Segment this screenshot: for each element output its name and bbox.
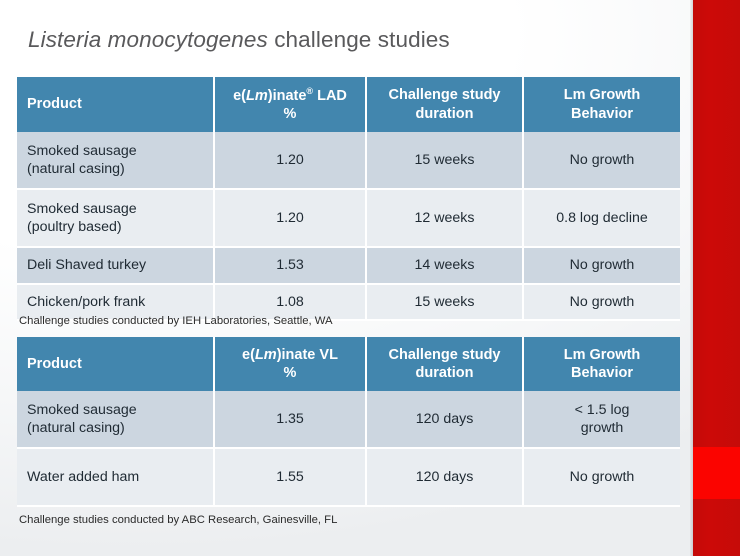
column-header-growth-behavior: Lm Growth Behavior xyxy=(523,77,680,132)
cell-product-line2: (natural casing) xyxy=(27,420,125,436)
growth-behavior-line1: Lm Growth xyxy=(564,87,641,103)
challenge-duration-line1: Challenge study xyxy=(389,347,501,363)
table-row: Water added ham 1.55 120 days No growth xyxy=(17,448,680,506)
elminate-suffix: )inate VL xyxy=(277,347,338,363)
elminate-tail: LAD xyxy=(313,88,347,104)
table-header-row: Product e(Lm)inate® LAD % Challenge stud… xyxy=(17,77,680,132)
table-row: Deli Shaved turkey 1.53 14 weeks No grow… xyxy=(17,247,680,283)
challenge-duration-line2: duration xyxy=(416,365,474,381)
column-header-elminate-lad: e(Lm)inate® LAD % xyxy=(214,77,366,132)
footnote-ieh: Challenge studies conducted by IEH Labor… xyxy=(19,315,333,327)
cell-growth-behavior: No growth xyxy=(523,284,680,320)
cell-product-line1: Smoked sausage xyxy=(27,143,137,159)
decorative-red-bar-edge xyxy=(690,0,693,556)
cell-growth-behavior: 0.8 log decline xyxy=(523,189,680,247)
elminate-suffix: )inate xyxy=(268,88,307,104)
elminate-percent: % xyxy=(284,106,297,122)
cell-vl-percent: 1.35 xyxy=(214,391,366,448)
column-header-elminate-vl: e(Lm)inate VL % xyxy=(214,337,366,391)
cell-growth-behavior: No growth xyxy=(523,132,680,189)
cell-product: Deli Shaved turkey xyxy=(17,247,214,283)
growth-behavior-line2: Behavior xyxy=(571,365,633,381)
cell-duration: 15 weeks xyxy=(366,132,523,189)
cell-duration: 15 weeks xyxy=(366,284,523,320)
cell-growth-behavior: No growth xyxy=(523,448,680,506)
cell-product: Smoked sausage (natural casing) xyxy=(17,132,214,189)
cell-duration: 14 weeks xyxy=(366,247,523,283)
footnote-abc: Challenge studies conducted by ABC Resea… xyxy=(19,514,337,526)
page-title-scientific-name: Listeria monocytogenes xyxy=(28,27,268,52)
elminate-prefix: e( xyxy=(233,88,246,104)
growth-behavior-line2: Behavior xyxy=(571,106,633,122)
cell-product-line2: (poultry based) xyxy=(27,219,122,235)
column-header-product-label: Product xyxy=(27,356,82,372)
cell-lad-percent: 1.20 xyxy=(214,132,366,189)
column-header-product-label: Product xyxy=(27,96,82,112)
cell-product-line1: Smoked sausage xyxy=(27,402,137,418)
cell-lad-percent: 1.20 xyxy=(214,189,366,247)
table-row: Smoked sausage (poultry based) 1.20 12 w… xyxy=(17,189,680,247)
page-title-suffix: challenge studies xyxy=(268,27,450,52)
cell-product: Smoked sausage (poultry based) xyxy=(17,189,214,247)
growth-behavior-line1: Lm Growth xyxy=(564,347,641,363)
table-row: Smoked sausage (natural casing) 1.35 120… xyxy=(17,391,680,448)
cell-product-line2: (natural casing) xyxy=(27,161,125,177)
cell-growth-behavior: < 1.5 log growth xyxy=(523,391,680,448)
column-header-challenge-duration: Challenge study duration xyxy=(366,77,523,132)
column-header-product: Product xyxy=(17,77,214,132)
cell-growth-behavior-line2: growth xyxy=(581,420,624,436)
column-header-challenge-duration: Challenge study duration xyxy=(366,337,523,391)
elminate-prefix: e( xyxy=(242,347,255,363)
column-header-product: Product xyxy=(17,337,214,391)
cell-lad-percent: 1.53 xyxy=(214,247,366,283)
slide-canvas: Listeria monocytogenes challenge studies… xyxy=(0,0,740,556)
cell-product-line1: Smoked sausage xyxy=(27,201,137,217)
elminate-percent: % xyxy=(284,365,297,381)
cell-growth-behavior: No growth xyxy=(523,247,680,283)
cell-product: Water added ham xyxy=(17,448,214,506)
table-row: Smoked sausage (natural casing) 1.20 15 … xyxy=(17,132,680,189)
elminate-italic-lm: Lm xyxy=(246,88,268,104)
challenge-duration-line2: duration xyxy=(416,106,474,122)
column-header-growth-behavior: Lm Growth Behavior xyxy=(523,337,680,391)
challenge-studies-table-lad: Product e(Lm)inate® LAD % Challenge stud… xyxy=(17,77,680,321)
page-title: Listeria monocytogenes challenge studies xyxy=(28,27,450,53)
cell-growth-behavior-line1: < 1.5 log xyxy=(575,402,630,418)
cell-duration: 120 days xyxy=(366,391,523,448)
cell-duration: 12 weeks xyxy=(366,189,523,247)
decorative-red-bar-highlight xyxy=(693,447,740,499)
elminate-italic-lm: Lm xyxy=(255,347,277,363)
cell-product: Smoked sausage (natural casing) xyxy=(17,391,214,448)
cell-duration: 120 days xyxy=(366,448,523,506)
challenge-studies-table-vl: Product e(Lm)inate VL % Challenge study … xyxy=(17,337,680,507)
table-header-row: Product e(Lm)inate VL % Challenge study … xyxy=(17,337,680,391)
cell-vl-percent: 1.55 xyxy=(214,448,366,506)
challenge-duration-line1: Challenge study xyxy=(389,87,501,103)
